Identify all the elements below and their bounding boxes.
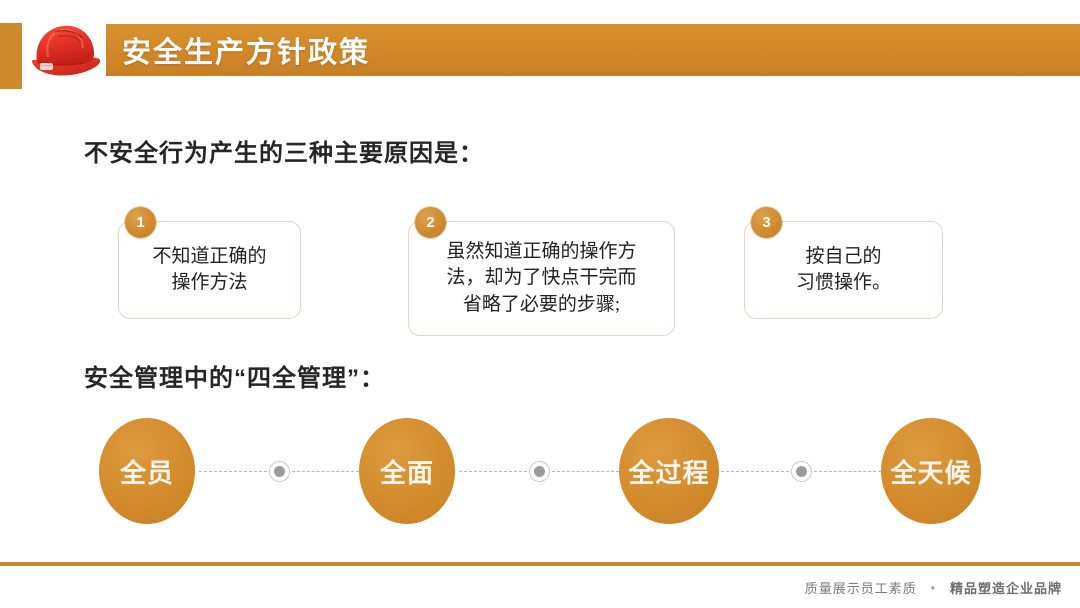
header-accent-block bbox=[0, 23, 22, 89]
dot-connector-icon bbox=[529, 461, 550, 482]
reason-1-line-1: 不知道正确的 bbox=[152, 244, 266, 270]
management-flow: 全员 全面 全过程 全天候 bbox=[0, 418, 1080, 524]
reason-2-line-3: 省略了必要的步骤; bbox=[463, 292, 620, 318]
slide-header: 安全生产方针政策 bbox=[0, 0, 1080, 96]
dashed-line bbox=[721, 471, 789, 472]
reason-number-badge-2: 2 bbox=[415, 207, 446, 238]
dashed-line bbox=[459, 471, 527, 472]
reason-2-line-2: 法，却为了快点干完而 bbox=[446, 265, 636, 291]
flow-circle-3: 全过程 bbox=[619, 418, 719, 524]
flow-connector-2 bbox=[459, 464, 619, 478]
reasons-heading: 不安全行为产生的三种主要原因是： bbox=[84, 133, 484, 168]
dashed-line bbox=[292, 471, 360, 472]
reason-number-badge-3: 3 bbox=[751, 207, 782, 238]
slide: 安全生产方针政策 不安全行为产生的三种主要原因是： 不知道正确的 操作方法 1 … bbox=[0, 0, 1080, 608]
footer-right-slogan: 精品塑造企业品牌 bbox=[950, 578, 1062, 597]
reason-2-line-1: 虽然知道正确的操作方 bbox=[446, 239, 636, 265]
safety-helmet-icon bbox=[24, 17, 106, 83]
dot-connector-icon bbox=[791, 461, 812, 482]
flow-circle-4: 全天候 bbox=[881, 418, 981, 524]
flow-circle-2: 全面 bbox=[359, 418, 455, 524]
reason-text-2: 虽然知道正确的操作方 法，却为了快点干完而 省略了必要的步骤; bbox=[408, 221, 675, 336]
reason-3-line-1: 按自己的 bbox=[805, 244, 881, 270]
page-title: 安全生产方针政策 bbox=[122, 24, 370, 76]
footer-separator-icon: • bbox=[931, 581, 936, 595]
reason-1-line-2: 操作方法 bbox=[171, 270, 247, 296]
footer-divider bbox=[0, 562, 1080, 566]
dashed-line bbox=[814, 471, 882, 472]
footer: 质量展示员工素质 • 精品塑造企业品牌 bbox=[805, 578, 1062, 597]
flow-connector-3 bbox=[721, 464, 881, 478]
flow-connector-1 bbox=[199, 464, 359, 478]
reason-number-badge-1: 1 bbox=[125, 207, 156, 238]
dashed-line bbox=[199, 471, 267, 472]
reason-3-line-2: 习惯操作。 bbox=[796, 270, 891, 296]
management-heading: 安全管理中的“四全管理”： bbox=[84, 358, 385, 393]
dot-connector-icon bbox=[269, 461, 290, 482]
dashed-line bbox=[552, 471, 620, 472]
footer-left-slogan: 质量展示员工素质 bbox=[805, 578, 917, 597]
flow-circle-1: 全员 bbox=[99, 418, 195, 524]
